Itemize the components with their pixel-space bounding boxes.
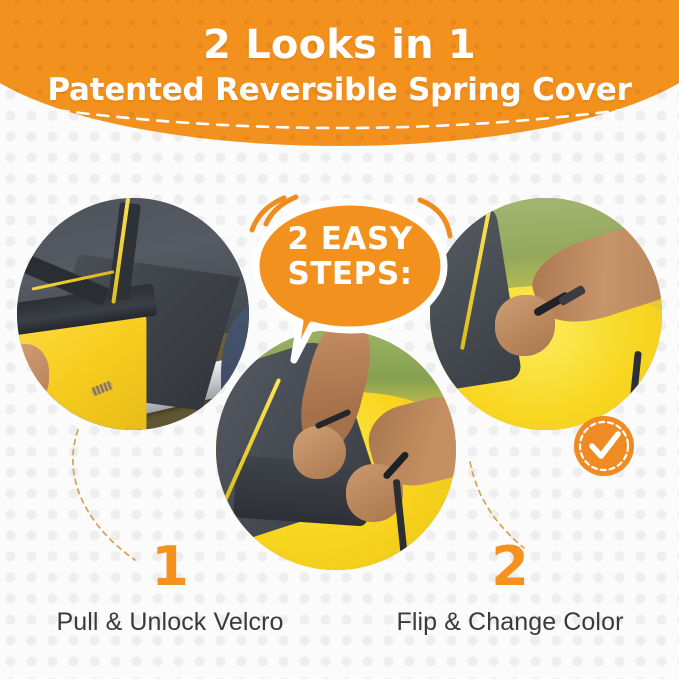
step-2-caption: 2 Flip & Change Color [360,540,660,637]
step-1-caption: 1 Pull & Unlock Velcro [20,540,320,637]
product-infographic: 2 Looks in 1 Patented Reversible Spring … [0,0,679,679]
step-1-label: Pull & Unlock Velcro [20,608,320,637]
step-1-number: 1 [20,540,320,594]
step-3-photo [430,198,662,430]
banner-dashed-edge [0,0,679,146]
step-1-photo [17,198,249,430]
photo-2-hand-left [293,426,346,479]
check-badge-circle [574,416,634,476]
easy-steps-callout: 2 EASY STEPS: [244,196,456,368]
check-badge [573,415,635,477]
bubble-shape [256,202,444,360]
step-2-label: Flip & Change Color [360,608,660,637]
step-2-number: 2 [360,540,660,594]
header-banner [0,0,679,146]
